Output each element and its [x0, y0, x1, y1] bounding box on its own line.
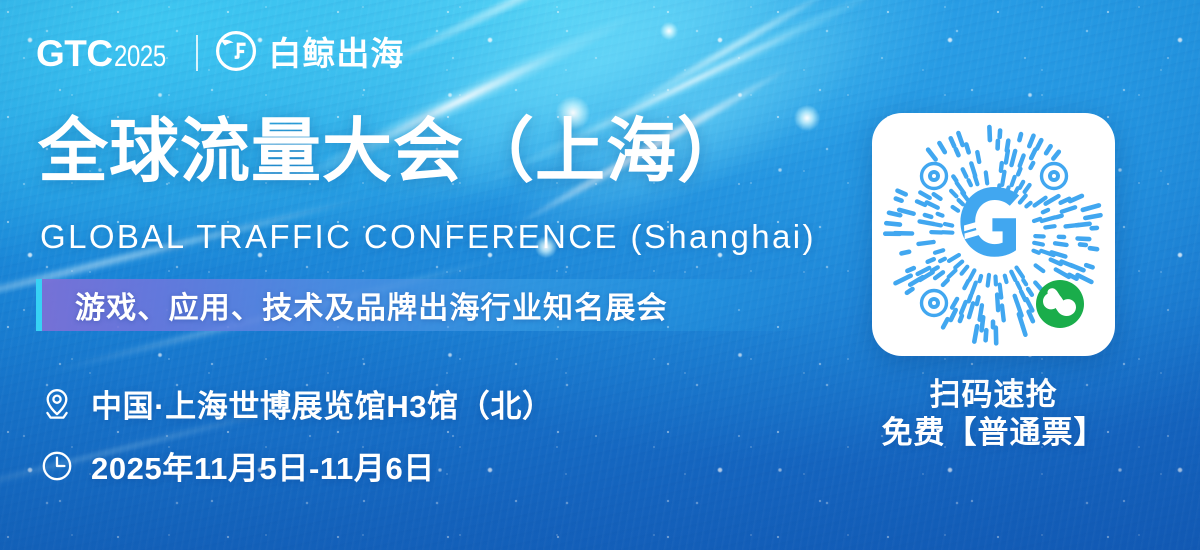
brand-lockup: 白鲸出海 [215, 30, 404, 77]
qr-block: 扫码速抢 免费【普通票】 [870, 113, 1117, 452]
header-logo-row: GTC 2025 白鲸出海 [36, 30, 404, 76]
tagline-band: 游戏、应用、技术及品牌出海行业知名展会 [36, 279, 826, 331]
gtc-logo-text: GTC [36, 35, 113, 72]
gtc-logo-year: 2025 [114, 42, 166, 72]
whale-g-circle-icon [215, 30, 257, 77]
clock-icon [40, 449, 74, 483]
vertical-divider [196, 35, 198, 71]
qr-caption: 扫码速抢 免费【普通票】 [882, 376, 1106, 452]
page-subtitle-en: GLOBAL TRAFFIC CONFERENCE (Shanghai) [40, 218, 816, 256]
qr-caption-line2: 免费【普通票】 [882, 414, 1106, 452]
tagline-accent-bar [36, 279, 42, 331]
dates-text: 2025年11月5日-11月6日 [91, 443, 435, 488]
venue-text: 中国·上海世博展览馆H3馆（北） [91, 381, 554, 426]
qr-code[interactable] [872, 113, 1115, 356]
map-pin-icon [40, 387, 74, 421]
qr-caption-line1: 扫码速抢 [882, 376, 1106, 414]
event-banner: GTC 2025 白鲸出海 全球流量大会（上海） GLOBAL TRAFFIC … [0, 0, 1200, 550]
gtc-logo: GTC 2025 [36, 35, 178, 72]
info-row-venue: 中国·上海世博展览馆H3馆（北） [40, 381, 554, 426]
tagline-text: 游戏、应用、技术及品牌出海行业知名展会 [75, 283, 668, 327]
wechat-miniprogram-icon [1036, 280, 1084, 328]
brand-name-text: 白鲸出海 [268, 37, 404, 70]
page-title: 全球流量大会（上海） [38, 116, 748, 186]
info-row-dates: 2025年11月5日-11月6日 [40, 443, 435, 488]
qr-center-logo [960, 187, 1019, 257]
